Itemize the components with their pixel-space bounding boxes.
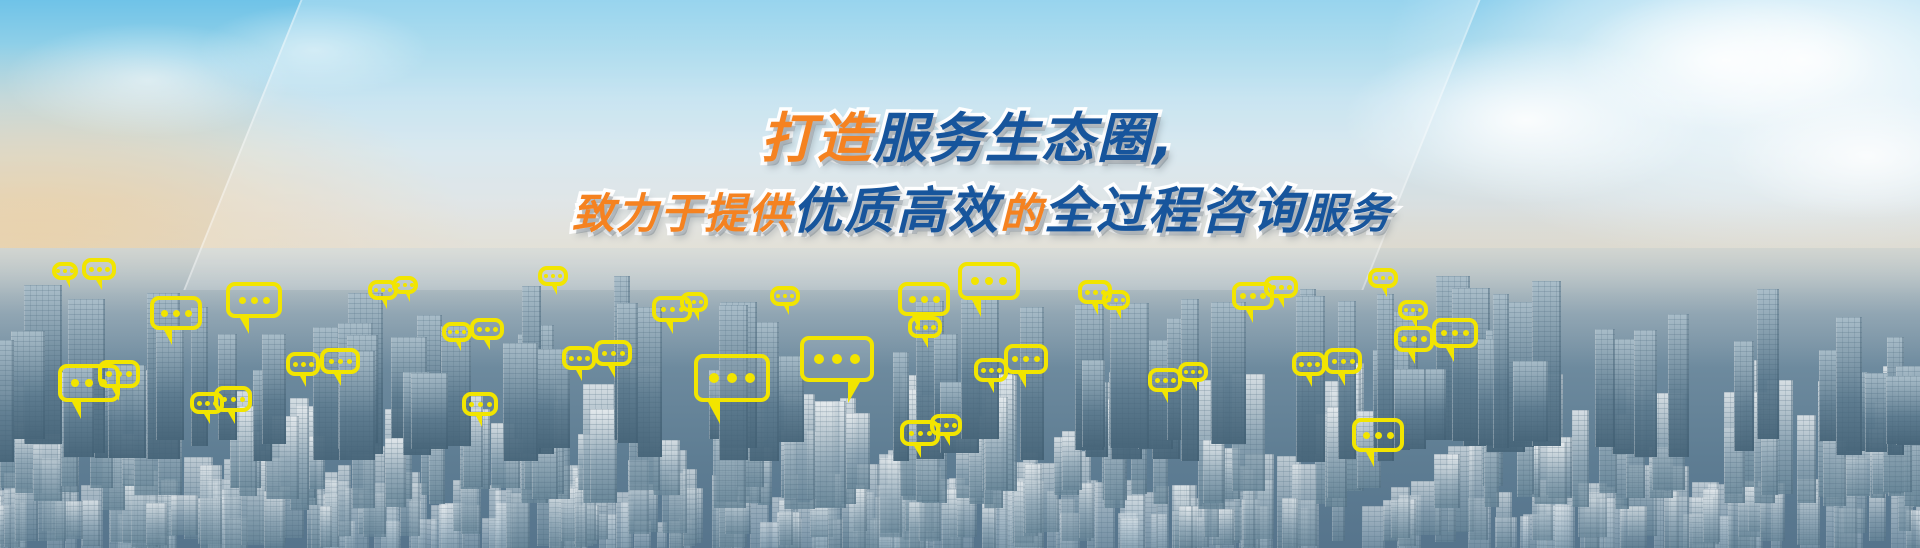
speech-bubble-dot <box>997 368 1002 373</box>
speech-bubble-body <box>800 336 874 382</box>
speech-bubble-dot <box>105 267 110 272</box>
speech-bubble-dot <box>611 351 616 356</box>
speech-bubble-dot <box>1307 362 1312 367</box>
speech-bubble-dot <box>347 359 352 364</box>
speech-bubble-icon <box>98 360 140 388</box>
building <box>1664 491 1679 548</box>
speech-bubble-dot <box>1163 378 1168 383</box>
speech-bubble-icon <box>214 386 252 412</box>
building <box>814 401 846 508</box>
speech-bubble-body <box>958 262 1020 300</box>
speech-bubble-tail <box>922 338 928 348</box>
speech-bubble-body <box>694 354 770 402</box>
speech-bubble-icon <box>1324 348 1362 374</box>
speech-bubble-dot <box>999 277 1007 285</box>
speech-bubble-dot <box>1350 359 1355 364</box>
speech-bubble-tail <box>784 306 789 315</box>
speech-bubble-dot <box>1023 356 1029 362</box>
speech-bubble-icon <box>442 322 472 342</box>
speech-bubble-tail <box>1092 304 1098 315</box>
building <box>33 434 62 501</box>
speech-bubble-tail <box>228 412 235 424</box>
speech-bubble-icon <box>800 336 874 382</box>
building <box>1110 303 1149 448</box>
speech-bubble-tail <box>476 416 482 427</box>
speech-bubble-dot <box>410 283 414 287</box>
speech-bubble-tail <box>1116 310 1121 319</box>
speech-bubble-tail <box>694 312 699 321</box>
cloud-left <box>0 0 460 170</box>
speech-bubble-dot <box>478 402 483 407</box>
speech-bubble-dot <box>374 288 378 292</box>
speech-bubble-dot <box>985 277 993 285</box>
speech-bubble-icon <box>1432 318 1478 348</box>
building <box>1391 487 1410 537</box>
building <box>146 503 167 545</box>
speech-bubble-dot <box>585 356 590 361</box>
building <box>1493 294 1509 448</box>
speech-bubble-icon <box>1102 290 1130 310</box>
speech-bubble-dot <box>173 310 180 317</box>
building <box>1079 483 1094 538</box>
speech-bubble-tail <box>1338 374 1345 386</box>
speech-bubble-icon <box>930 414 962 436</box>
speech-bubble-tail <box>1162 392 1168 403</box>
speech-bubble-dot <box>952 423 957 428</box>
speech-bubble-icon <box>680 292 708 312</box>
speech-bubble-tail <box>1366 452 1374 467</box>
speech-bubble-tail <box>456 342 461 351</box>
speech-bubble-icon <box>470 318 504 340</box>
speech-bubble-dot <box>921 296 928 303</box>
speech-bubble-body <box>98 360 140 388</box>
speech-bubble-tail <box>406 294 410 302</box>
speech-bubble-body <box>226 282 282 318</box>
speech-bubble-dot <box>126 371 132 377</box>
speech-bubble-icon <box>974 358 1008 382</box>
speech-bubble-dot <box>1332 359 1337 364</box>
speech-bubble-tail <box>72 402 81 419</box>
speech-bubble-dot <box>915 325 920 330</box>
speech-bubble-dot <box>1452 330 1458 336</box>
speech-bubble-dot <box>1463 330 1469 336</box>
building <box>1620 506 1647 548</box>
building <box>1634 330 1657 457</box>
speech-bubble-dot <box>161 310 168 317</box>
speech-bubble-tail <box>848 382 860 403</box>
speech-bubble-dot <box>469 402 474 407</box>
speech-bubble-icon <box>462 392 498 416</box>
speech-bubble-dot <box>1155 378 1160 383</box>
speech-bubble-dot <box>933 296 940 303</box>
building <box>1595 329 1615 447</box>
speech-bubble-body <box>1004 344 1048 374</box>
building <box>1869 492 1887 541</box>
hero-banner: 打造服务生态圈, 致力于提供优质高效的全过程咨询服务 <box>0 0 1920 548</box>
speech-bubble-tail <box>1446 348 1454 362</box>
speech-bubble-dot <box>1271 285 1276 290</box>
building <box>200 465 222 548</box>
building <box>1434 454 1460 508</box>
building <box>1734 341 1754 451</box>
speech-bubble-tail <box>1246 310 1253 323</box>
speech-bubble-dot <box>239 297 246 304</box>
building <box>320 506 332 547</box>
speech-bubble-tail <box>1382 288 1387 297</box>
speech-bubble-dot <box>936 423 941 428</box>
speech-bubble-dot <box>709 373 719 383</box>
speech-bubble-tail <box>1306 376 1312 387</box>
building <box>1282 498 1298 548</box>
building <box>1025 464 1042 533</box>
speech-bubble-icon <box>538 266 568 286</box>
speech-bubble-tail <box>1192 382 1197 391</box>
speech-bubble-icon <box>82 258 116 280</box>
building <box>11 331 45 439</box>
speech-bubble-tail <box>334 374 341 386</box>
speech-bubble-dot <box>1363 432 1370 439</box>
speech-bubble-icon <box>52 262 78 280</box>
building <box>411 373 447 448</box>
speech-bubble-dot <box>1085 290 1090 295</box>
speech-bubble-dot <box>1374 276 1378 280</box>
speech-bubble-icon <box>226 282 282 318</box>
speech-bubble-dot <box>1404 308 1408 312</box>
speech-bubble-dot <box>338 359 343 364</box>
speech-bubble-tail <box>1412 320 1417 329</box>
building <box>760 522 779 548</box>
building <box>503 343 538 461</box>
building <box>1757 289 1779 439</box>
speech-bubble-dot <box>251 297 258 304</box>
speech-bubble-dot <box>1315 362 1320 367</box>
speech-bubble-dot <box>240 397 245 402</box>
speech-bubble-dot <box>477 327 482 332</box>
building <box>617 303 638 443</box>
speech-bubble-dot <box>1341 359 1346 364</box>
speech-bubble-dot <box>1107 298 1111 302</box>
speech-bubble-dot <box>222 397 227 402</box>
speech-bubble-dot <box>1034 356 1040 362</box>
speech-bubble-dot <box>814 354 824 364</box>
speech-bubble-tail <box>1408 352 1415 364</box>
speech-bubble-icon <box>286 352 320 376</box>
building <box>1203 440 1224 504</box>
speech-bubble-dot <box>70 269 74 273</box>
speech-bubble-dot <box>293 362 298 367</box>
speech-bubble-tail <box>1278 298 1284 308</box>
speech-bubble-dot <box>727 373 737 383</box>
speech-bubble-tail <box>66 280 70 288</box>
speech-bubble-icon <box>562 346 596 370</box>
building <box>264 491 285 548</box>
speech-bubble-dot <box>685 300 689 304</box>
speech-bubble-icon <box>958 262 1020 300</box>
speech-bubble-icon <box>1352 418 1404 452</box>
speech-bubble-dot <box>661 307 666 312</box>
speech-bubble-dot <box>1421 336 1427 342</box>
speech-bubble-dot <box>106 371 112 377</box>
speech-bubble-tail <box>552 286 557 295</box>
speech-bubble-dot <box>1012 356 1018 362</box>
speech-bubble-dot <box>85 379 93 387</box>
speech-bubble-dot <box>1287 285 1292 290</box>
speech-bubble-dot <box>56 269 60 273</box>
speech-bubble-dot <box>544 274 548 278</box>
speech-bubble-dot <box>1121 298 1125 302</box>
speech-bubble-tail <box>240 318 249 334</box>
speech-bubble-body <box>1352 418 1404 452</box>
speech-bubble-dot <box>263 297 270 304</box>
speech-bubble-icon <box>1368 268 1398 288</box>
speech-bubble-icon <box>1148 368 1182 392</box>
building <box>1362 506 1385 548</box>
speech-bubble-icon <box>1178 362 1208 382</box>
speech-bubble-dot <box>1418 308 1422 312</box>
speech-bubble-tail <box>708 402 720 424</box>
speech-bubble-dot <box>971 277 979 285</box>
speech-bubble-dot <box>301 362 306 367</box>
speech-bubble-dot <box>989 368 994 373</box>
building <box>1797 415 1816 504</box>
speech-bubble-dot <box>577 356 582 361</box>
speech-bubble-dot <box>1387 432 1394 439</box>
building <box>1179 506 1193 548</box>
speech-bubble-tail <box>666 322 673 334</box>
speech-bubble-dot <box>1411 336 1417 342</box>
speech-bubble-tail <box>988 382 994 393</box>
speech-bubble-icon <box>1004 344 1048 374</box>
speech-bubble-icon <box>1292 352 1326 376</box>
speech-bubble-dot <box>909 296 916 303</box>
speech-bubble-dot <box>1250 293 1256 299</box>
speech-bubble-icon <box>1394 326 1434 352</box>
speech-bubble-dot <box>909 431 914 436</box>
speech-bubble-dot <box>620 351 625 356</box>
speech-bubble-tail <box>96 280 102 290</box>
speech-bubble-dot <box>185 310 192 317</box>
speech-bubble-dot <box>602 351 607 356</box>
speech-bubble-dot <box>231 397 236 402</box>
speech-bubble-dot <box>493 327 498 332</box>
speech-bubble-icon <box>392 276 418 294</box>
speech-bubble-tail <box>972 300 981 317</box>
speech-bubble-icon <box>594 340 632 366</box>
building <box>982 503 996 548</box>
speech-bubble-icon <box>1264 276 1298 298</box>
speech-bubble-dot <box>1441 330 1447 336</box>
speech-bubble-body <box>150 296 202 330</box>
speech-bubble-dot <box>790 294 794 298</box>
building <box>1513 361 1548 441</box>
building <box>637 307 663 456</box>
building <box>846 413 870 489</box>
building <box>1520 516 1530 548</box>
speech-bubble-dot <box>1388 276 1392 280</box>
speech-bubble-dot <box>931 325 936 330</box>
speech-bubble-dot <box>745 373 755 383</box>
building <box>1703 489 1720 542</box>
speech-bubble-dot <box>1198 370 1202 374</box>
speech-bubble-dot <box>670 307 675 312</box>
speech-bubble-dot <box>197 401 202 406</box>
speech-bubble-icon <box>1398 300 1428 320</box>
building <box>1668 314 1689 456</box>
speech-bubble-dot <box>396 283 400 287</box>
speech-bubble-dot <box>699 300 703 304</box>
building <box>1572 410 1589 507</box>
speech-bubble-dot <box>89 267 94 272</box>
building <box>1082 360 1106 448</box>
building <box>338 465 351 536</box>
speech-bubble-dot <box>116 371 122 377</box>
speech-bubble-dot <box>1171 378 1176 383</box>
building <box>1211 302 1246 444</box>
speech-bubble-dot <box>1375 432 1382 439</box>
speech-bubble-dot <box>329 359 334 364</box>
speech-bubble-dot <box>981 368 986 373</box>
speech-bubble-dot <box>1401 336 1407 342</box>
speech-bubble-icon <box>694 354 770 402</box>
speech-bubble-tail <box>1018 374 1026 388</box>
speech-bubble-icon <box>150 296 202 330</box>
speech-bubble-dot <box>1240 293 1246 299</box>
speech-bubble-tail <box>608 366 615 378</box>
speech-bubble-tail <box>300 376 306 387</box>
building <box>1836 317 1863 456</box>
speech-bubble-tail <box>576 370 582 381</box>
speech-bubble-dot <box>448 330 452 334</box>
speech-bubble-tail <box>164 330 172 345</box>
speech-bubble-dot <box>558 274 562 278</box>
speech-bubble-body <box>1394 326 1434 352</box>
speech-bubble-dot <box>776 294 780 298</box>
speech-bubble-dot <box>71 379 79 387</box>
speech-bubble-dot <box>850 354 860 364</box>
speech-bubble-tail <box>204 414 210 424</box>
speech-bubble-dot <box>918 431 923 436</box>
building <box>879 454 902 536</box>
speech-bubble-body <box>1432 318 1478 348</box>
speech-bubble-dot <box>832 354 842 364</box>
speech-bubble-tail <box>944 436 950 446</box>
speech-bubble-dot <box>1299 362 1304 367</box>
speech-bubble-dot <box>1093 290 1098 295</box>
speech-bubble-dot <box>462 330 466 334</box>
speech-bubble-icon <box>908 316 942 338</box>
speech-bubble-dot <box>1184 370 1188 374</box>
building <box>262 334 286 444</box>
speech-bubble-icon <box>898 282 950 316</box>
building <box>0 340 14 462</box>
speech-bubble-icon <box>770 286 800 306</box>
speech-bubble-body <box>320 348 360 374</box>
speech-bubble-dot <box>487 402 492 407</box>
speech-bubble-icon <box>320 348 360 374</box>
speech-bubble-dot <box>309 362 314 367</box>
speech-bubble-dot <box>569 356 574 361</box>
speech-bubble-tail <box>112 388 119 401</box>
building <box>1886 376 1920 444</box>
speech-bubble-tail <box>382 300 387 309</box>
speech-bubble-tail <box>484 340 490 350</box>
speech-bubble-tail <box>914 446 921 458</box>
building <box>171 495 198 536</box>
building <box>82 500 100 545</box>
speech-bubble-body <box>898 282 950 316</box>
